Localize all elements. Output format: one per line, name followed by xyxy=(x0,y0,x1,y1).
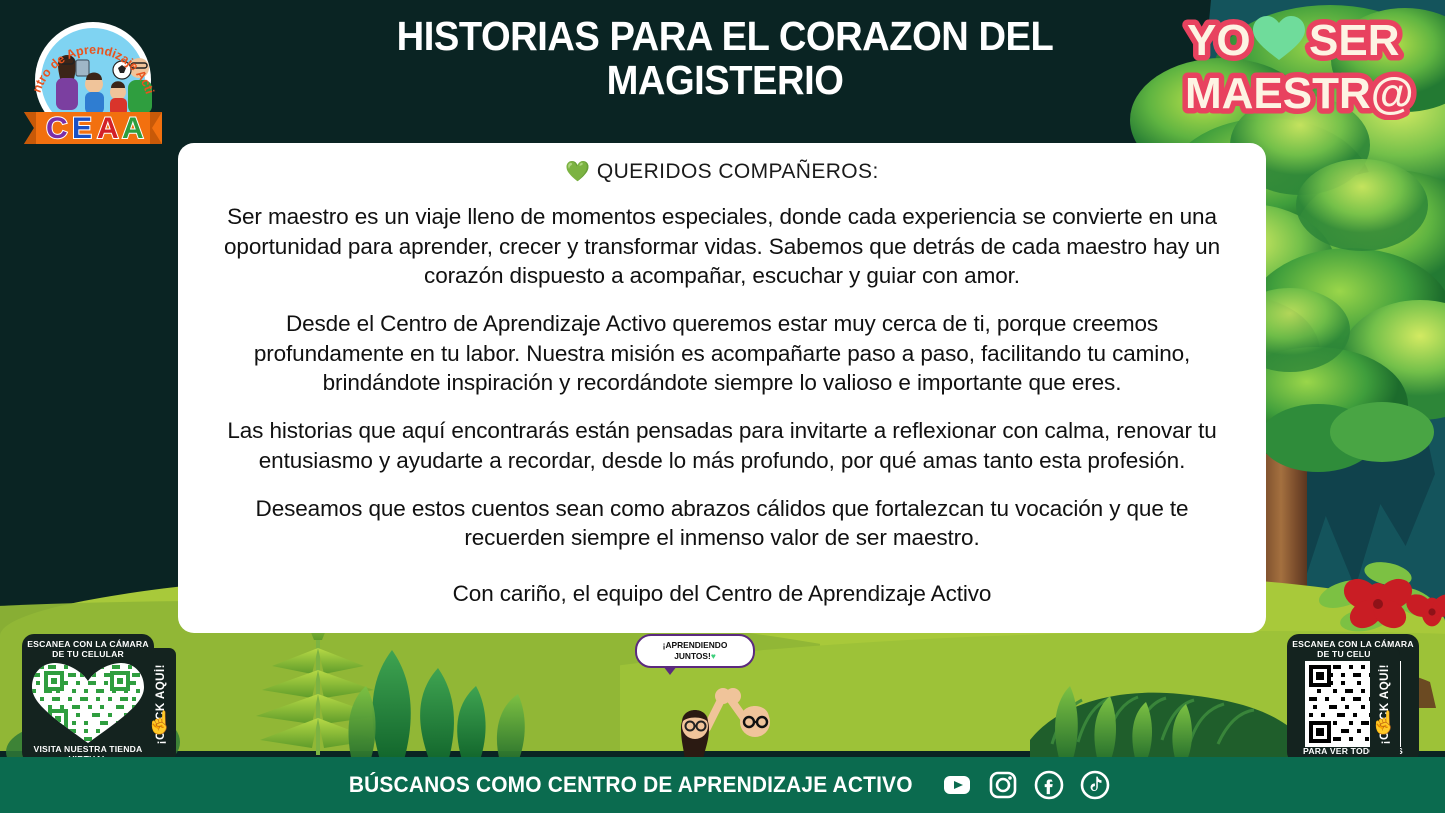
yo-amo-ser-maestro-badge: YO SER MAESTR@ xyxy=(1177,10,1427,120)
card-paragraph-4: Deseamos que estos cuentos sean como abr… xyxy=(216,494,1228,553)
badge-line1-right: SER xyxy=(1309,16,1399,65)
bubble-heart-icon: ♥ xyxy=(711,651,716,661)
card-paragraph-1: Ser maestro es un viaje lleno de momento… xyxy=(216,202,1228,291)
card-heading: 💚 QUERIDOS COMPAÑEROS: xyxy=(216,159,1228,184)
tienda-virtual-qr-card[interactable]: ESCANEA CON LA CÁMARA DE TU CELULAR xyxy=(22,634,154,764)
footer-text: BÚSCANOS COMO CENTRO DE APRENDIZAJE ACTI… xyxy=(349,772,913,798)
logo-ribbon: C E A A xyxy=(24,112,162,145)
facebook-icon[interactable] xyxy=(1033,769,1065,801)
click-here-tab-left[interactable]: ¡CLICK AQUÍ! xyxy=(146,648,176,760)
teachers-high-five-illustration: ¡APRENDIENDO JUNTOS!♥ xyxy=(645,638,805,766)
badge-line2: MAESTR@ xyxy=(1185,69,1414,118)
speech-bubble: ¡APRENDIENDO JUNTOS!♥ xyxy=(635,634,755,668)
message-card: 💚 QUERIDOS COMPAÑEROS: Ser maestro es un… xyxy=(178,143,1266,633)
youtube-icon[interactable] xyxy=(941,769,973,801)
svg-text:C: C xyxy=(46,112,68,145)
ceaa-logo[interactable]: Centro de Aprendizaje Activo C E A A xyxy=(18,8,168,148)
pointing-hand-icon-left: ☝ xyxy=(146,712,173,734)
click-here-tab-right[interactable]: ¡CLICK AQUÍ! xyxy=(1370,648,1400,760)
bubble-line-1: ¡APRENDIENDO xyxy=(641,640,749,651)
card-heading-text: QUERIDOS COMPAÑEROS: xyxy=(597,160,879,183)
tree-branch-upper xyxy=(1283,129,1436,184)
page-title: HISTORIAS PARA EL CORAZON DEL MAGISTERIO xyxy=(358,14,1093,103)
badge-line1-left: YO xyxy=(1187,16,1251,65)
qr-left-caption-top: ESCANEA CON LA CÁMARA DE TU CELULAR xyxy=(26,640,150,660)
card-paragraph-2: Desde el Centro de Aprendizaje Activo qu… xyxy=(216,309,1228,398)
instagram-icon[interactable] xyxy=(987,769,1019,801)
card-signature: Con cariño, el equipo del Centro de Apre… xyxy=(216,579,1228,609)
heart-icon xyxy=(1253,16,1305,60)
poster-canvas: Centro de Aprendizaje Activo C E A A HIS… xyxy=(0,0,1445,813)
svg-text:A: A xyxy=(97,112,119,145)
bubble-line-2: JUNTOS! xyxy=(674,651,711,661)
tiktok-icon[interactable] xyxy=(1079,769,1111,801)
footer-bar: BÚSCANOS COMO CENTRO DE APRENDIZAJE ACTI… xyxy=(0,757,1445,813)
qr-left-code[interactable] xyxy=(28,661,148,745)
pointing-hand-icon-right: ☝ xyxy=(1370,712,1397,734)
card-paragraph-3: Las historias que aquí encontrarás están… xyxy=(216,416,1228,475)
svg-text:E: E xyxy=(72,112,92,145)
tree-branch-lower xyxy=(1278,405,1400,444)
green-heart-icon: 💚 xyxy=(565,161,590,183)
svg-text:A: A xyxy=(122,112,144,145)
